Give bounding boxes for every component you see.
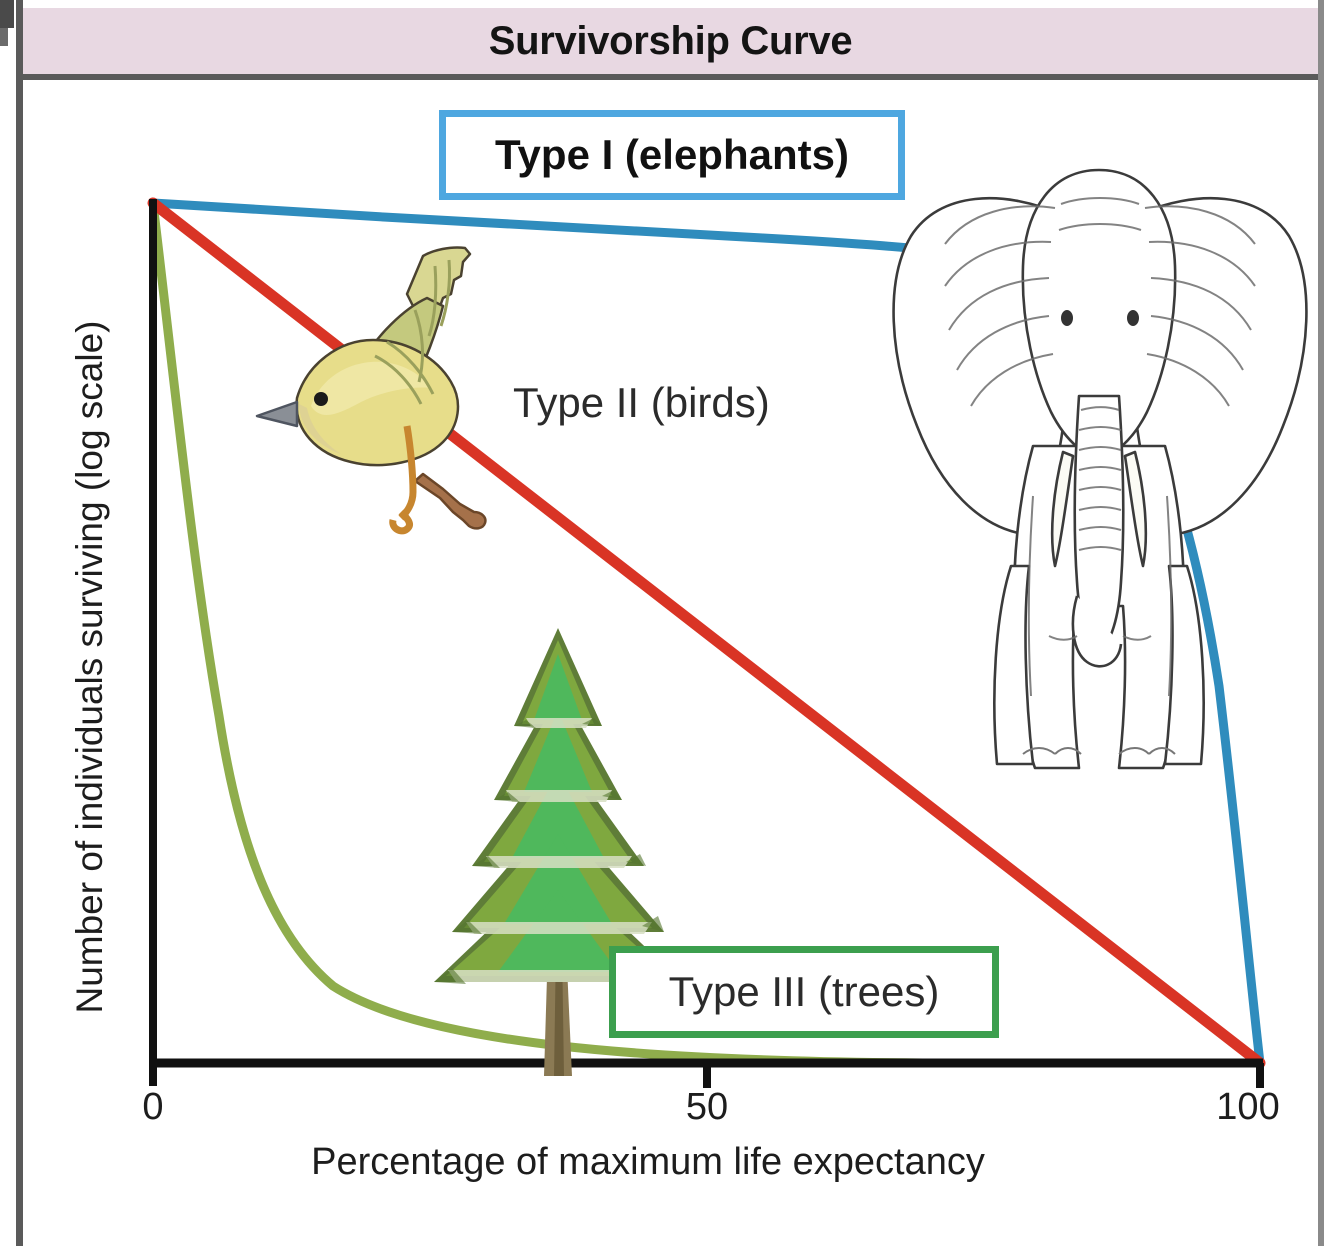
x-axis-label: Percentage of maximum life expectancy: [23, 1141, 1273, 1184]
x-tick-label-50: 50: [647, 1086, 767, 1129]
plot-area: Type I (elephants) Type II (birds) Type …: [23, 86, 1318, 1226]
x-tick-label-0: 0: [93, 1086, 213, 1129]
x-tick-label-100: 100: [1188, 1086, 1308, 1129]
top-left-corner-marker-secondary: [0, 28, 8, 46]
legend-label-type1[interactable]: Type I (elephants): [439, 110, 905, 200]
y-axis-label: Number of individuals surviving (log sca…: [69, 277, 111, 1057]
legend-label-type1-text: Type I (elephants): [495, 131, 849, 179]
figure-left-border: [16, 0, 23, 1246]
survivorship-curve-figure: Survivorship Curve: [0, 0, 1338, 1246]
legend-label-type3-text: Type III (trees): [669, 968, 940, 1016]
figure-right-border: [1318, 0, 1324, 1246]
legend-label-type2-text: Type II (birds): [513, 379, 770, 427]
legend-label-type2[interactable]: Type II (birds): [513, 374, 813, 432]
top-left-corner-marker: [0, 0, 14, 28]
legend-label-type3[interactable]: Type III (trees): [609, 946, 999, 1038]
page-title: Survivorship Curve: [489, 19, 853, 64]
elephant-illustration: [883, 96, 1313, 776]
figure-title-bar: Survivorship Curve: [23, 8, 1318, 80]
